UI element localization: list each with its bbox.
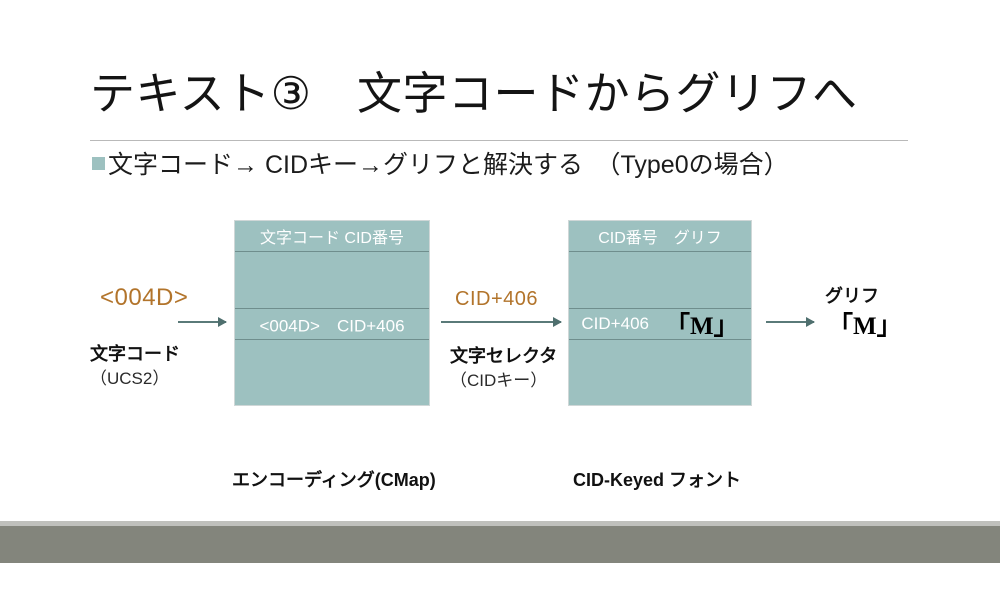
selector-code-value: CID+406 [455,288,538,311]
table-row: 文字コード CID番号 [235,221,429,252]
cid-font-table-header: CID番号 グリフ [569,224,751,248]
input-label: 文字コード [90,340,180,366]
cmap-table: 文字コード CID番号 <004D> CID+406 [234,220,430,406]
table-row: CID+406 「M」 [569,309,751,340]
cid-font-data-cid: CID+406 [581,314,649,334]
cmap-data-row: <004D> CID+406 [235,312,429,337]
table-row [235,252,429,309]
slide-canvas: テキスト③ 文字コードからグリフへ 文字コード→ CIDキー→グリフと解決する … [0,0,1000,563]
footer-dark-bar [0,526,1000,563]
cmap-caption: エンコーディング(CMap) UniJIS-USC2-H [232,430,436,587]
table-row [569,252,751,309]
arrow-right-icon [766,321,814,323]
table-row: <004D> CID+406 [235,309,429,340]
input-code-value: <004D> [100,284,188,312]
cid-font-data-row: CID+406 「M」 [569,306,751,342]
cmap-table-header: 文字コード CID番号 [235,224,429,248]
table-row: CID番号 グリフ [569,221,751,252]
output-value: 「M」 [828,306,902,342]
output-label: グリフ [825,282,879,308]
table-row [569,340,751,404]
input-sublabel: （UCS2） [90,364,169,389]
selector-sublabel: （CIDキー） [450,366,547,391]
table-row [235,340,429,404]
title-divider [90,140,908,141]
cmap-caption-title: エンコーディング(CMap) [232,466,436,492]
page-title: テキスト③ 文字コードからグリフへ [90,68,858,120]
subtitle-text: 文字コード→ CIDキー→グリフと解決する （Type0の場合） [108,150,789,180]
square-bullet-icon [92,157,105,170]
cid-font-table: CID番号 グリフ CID+406 「M」 [568,220,752,406]
cid-font-caption-title: CID-Keyed フォント [573,466,741,492]
cid-font-data-glyph: 「M」 [665,306,739,342]
subtitle-line: 文字コード→ CIDキー→グリフと解決する （Type0の場合） [92,150,789,180]
arrow-right-icon [178,321,226,323]
arrow-right-icon [441,321,561,323]
cid-font-caption: CID-Keyed フォント MS明朝 [573,430,741,592]
selector-label: 文字セレクタ [450,342,557,368]
